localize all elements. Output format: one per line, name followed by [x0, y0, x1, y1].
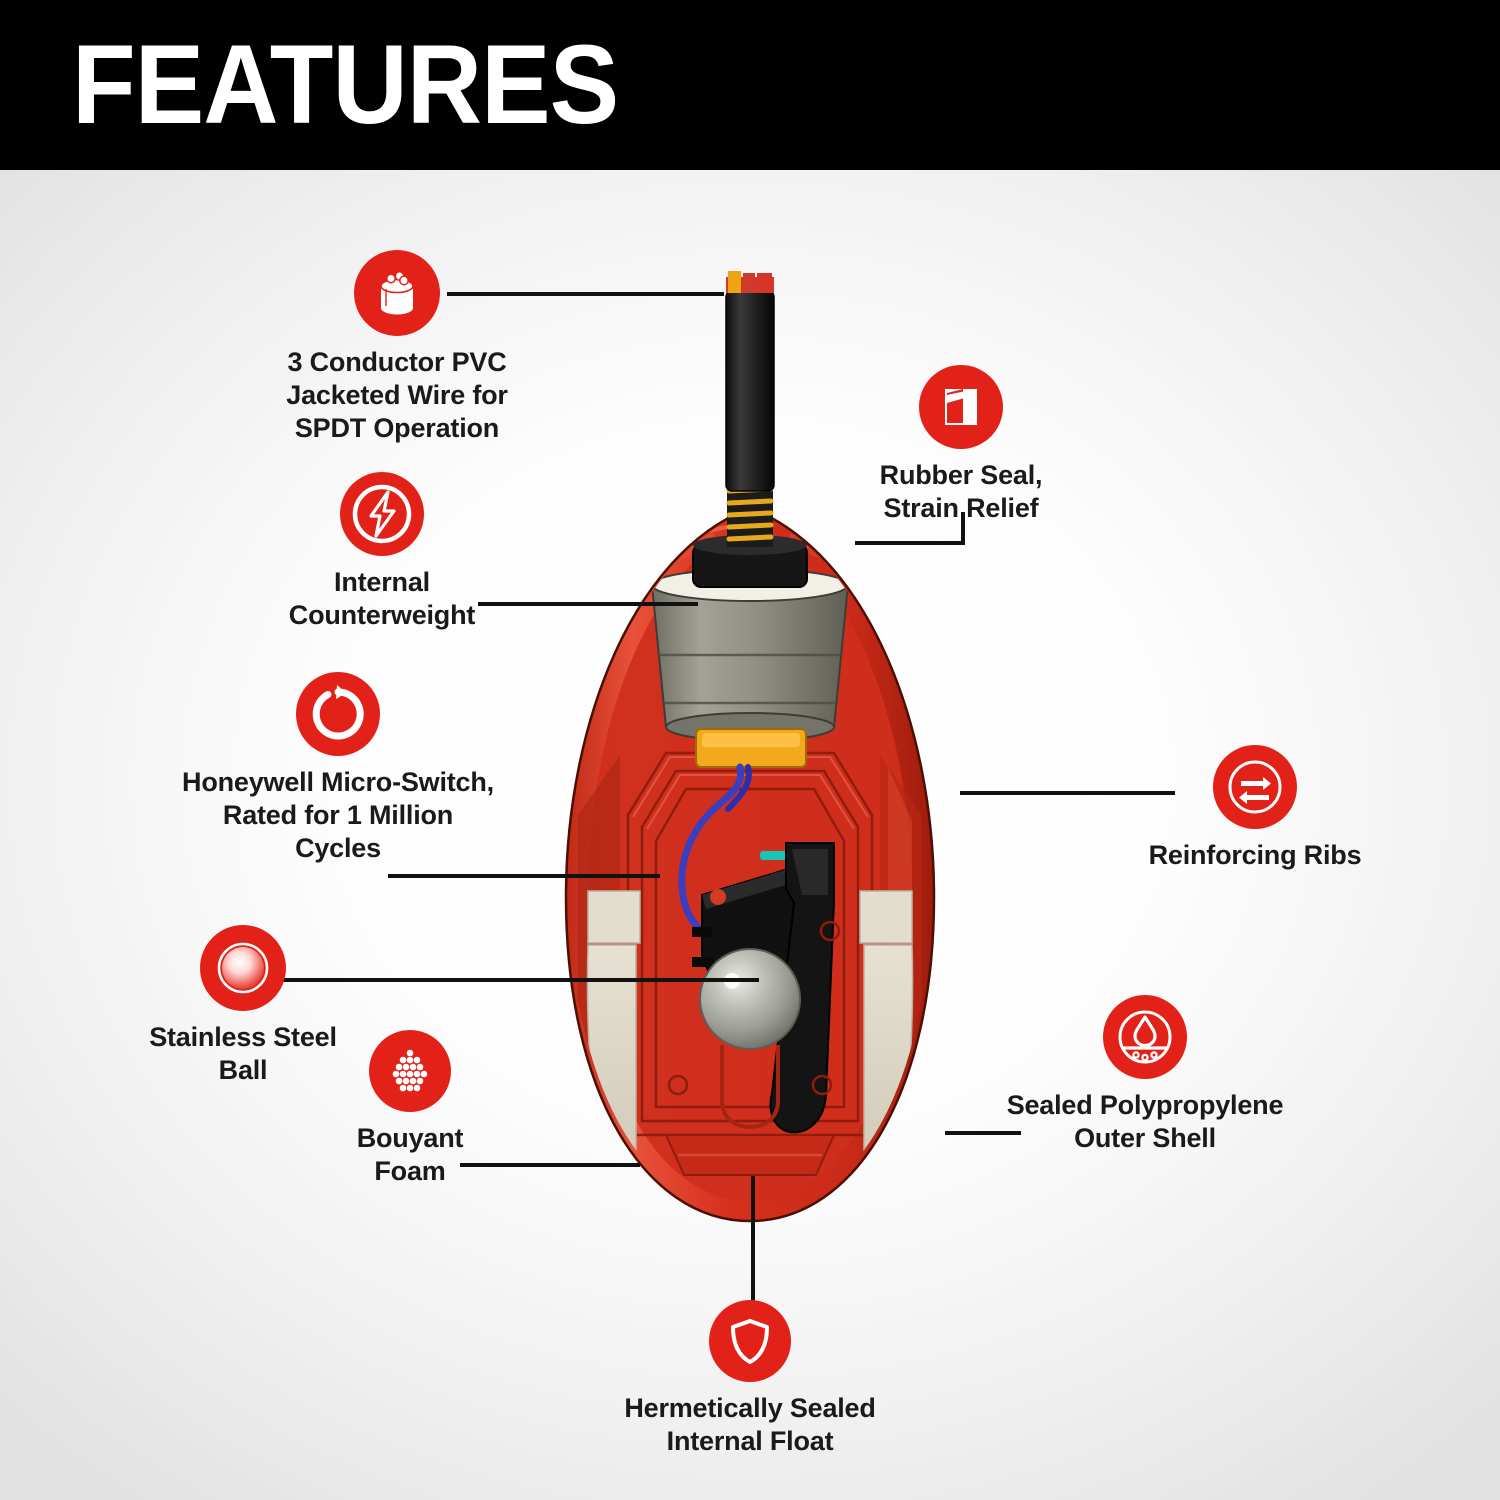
- leader-line-micro-switch: [388, 874, 660, 878]
- feature-label-bouyant-foam: Bouyant Foam: [310, 1122, 510, 1188]
- cycle-arrow-icon: [296, 672, 380, 756]
- strain-relief-spring: [727, 483, 773, 547]
- feature-rubber-seal[interactable]: Rubber Seal, Strain Relief: [845, 365, 1077, 525]
- waterproof-droplet-icon: [1103, 995, 1187, 1079]
- feature-label-sealed-polypropylene: Sealed Polypropylene Outer Shell: [1000, 1089, 1290, 1155]
- feature-honeywell-micro-switch[interactable]: Honeywell Micro-Switch, Rated for 1 Mill…: [148, 672, 528, 865]
- feature-conductor-wire[interactable]: 3 Conductor PVC Jacketed Wire for SPDT O…: [237, 250, 557, 445]
- feature-hermetically-sealed-float[interactable]: Hermetically Sealed Internal Float: [600, 1300, 900, 1458]
- gasket-seal-icon: [919, 365, 1003, 449]
- stainless-steel-ball: [700, 949, 800, 1049]
- feature-label-reinforcing-ribs: Reinforcing Ribs: [1105, 839, 1405, 872]
- feature-label-internal-counterweight: Internal Counterweight: [242, 566, 522, 632]
- orange-retainer-block: [696, 729, 806, 767]
- infographic-page: FEATURES: [0, 0, 1500, 1500]
- feature-bouyant-foam[interactable]: Bouyant Foam: [310, 1030, 510, 1188]
- foam-droplet-dots-icon: [369, 1030, 451, 1112]
- shield-icon: [709, 1300, 791, 1382]
- sphere-icon: [200, 925, 286, 1011]
- cable-spool-icon: [354, 250, 440, 336]
- page-title: FEATURES: [72, 29, 618, 141]
- feature-reinforcing-ribs[interactable]: Reinforcing Ribs: [1105, 745, 1405, 872]
- lightning-bolt-icon: [340, 472, 424, 556]
- feature-label-conductor-wire: 3 Conductor PVC Jacketed Wire for SPDT O…: [237, 346, 557, 445]
- page-header: FEATURES: [0, 0, 1500, 170]
- feature-label-honeywell-micro-switch: Honeywell Micro-Switch, Rated for 1 Mill…: [148, 766, 528, 865]
- feature-label-rubber-seal: Rubber Seal, Strain Relief: [845, 459, 1077, 525]
- conductor-tips: [726, 271, 774, 293]
- internal-counterweight: [652, 569, 848, 741]
- feature-sealed-polypropylene[interactable]: Sealed Polypropylene Outer Shell: [1000, 995, 1290, 1155]
- leader-line-rubber-seal-horizontal: [855, 541, 965, 545]
- leader-line-internal-float: [751, 1176, 755, 1302]
- pvc-jacketed-cable: [726, 291, 774, 491]
- feature-label-hermetically-sealed-float: Hermetically Sealed Internal Float: [600, 1392, 900, 1458]
- feature-internal-counterweight[interactable]: Internal Counterweight: [242, 472, 522, 632]
- opposing-arrows-icon: [1213, 745, 1297, 829]
